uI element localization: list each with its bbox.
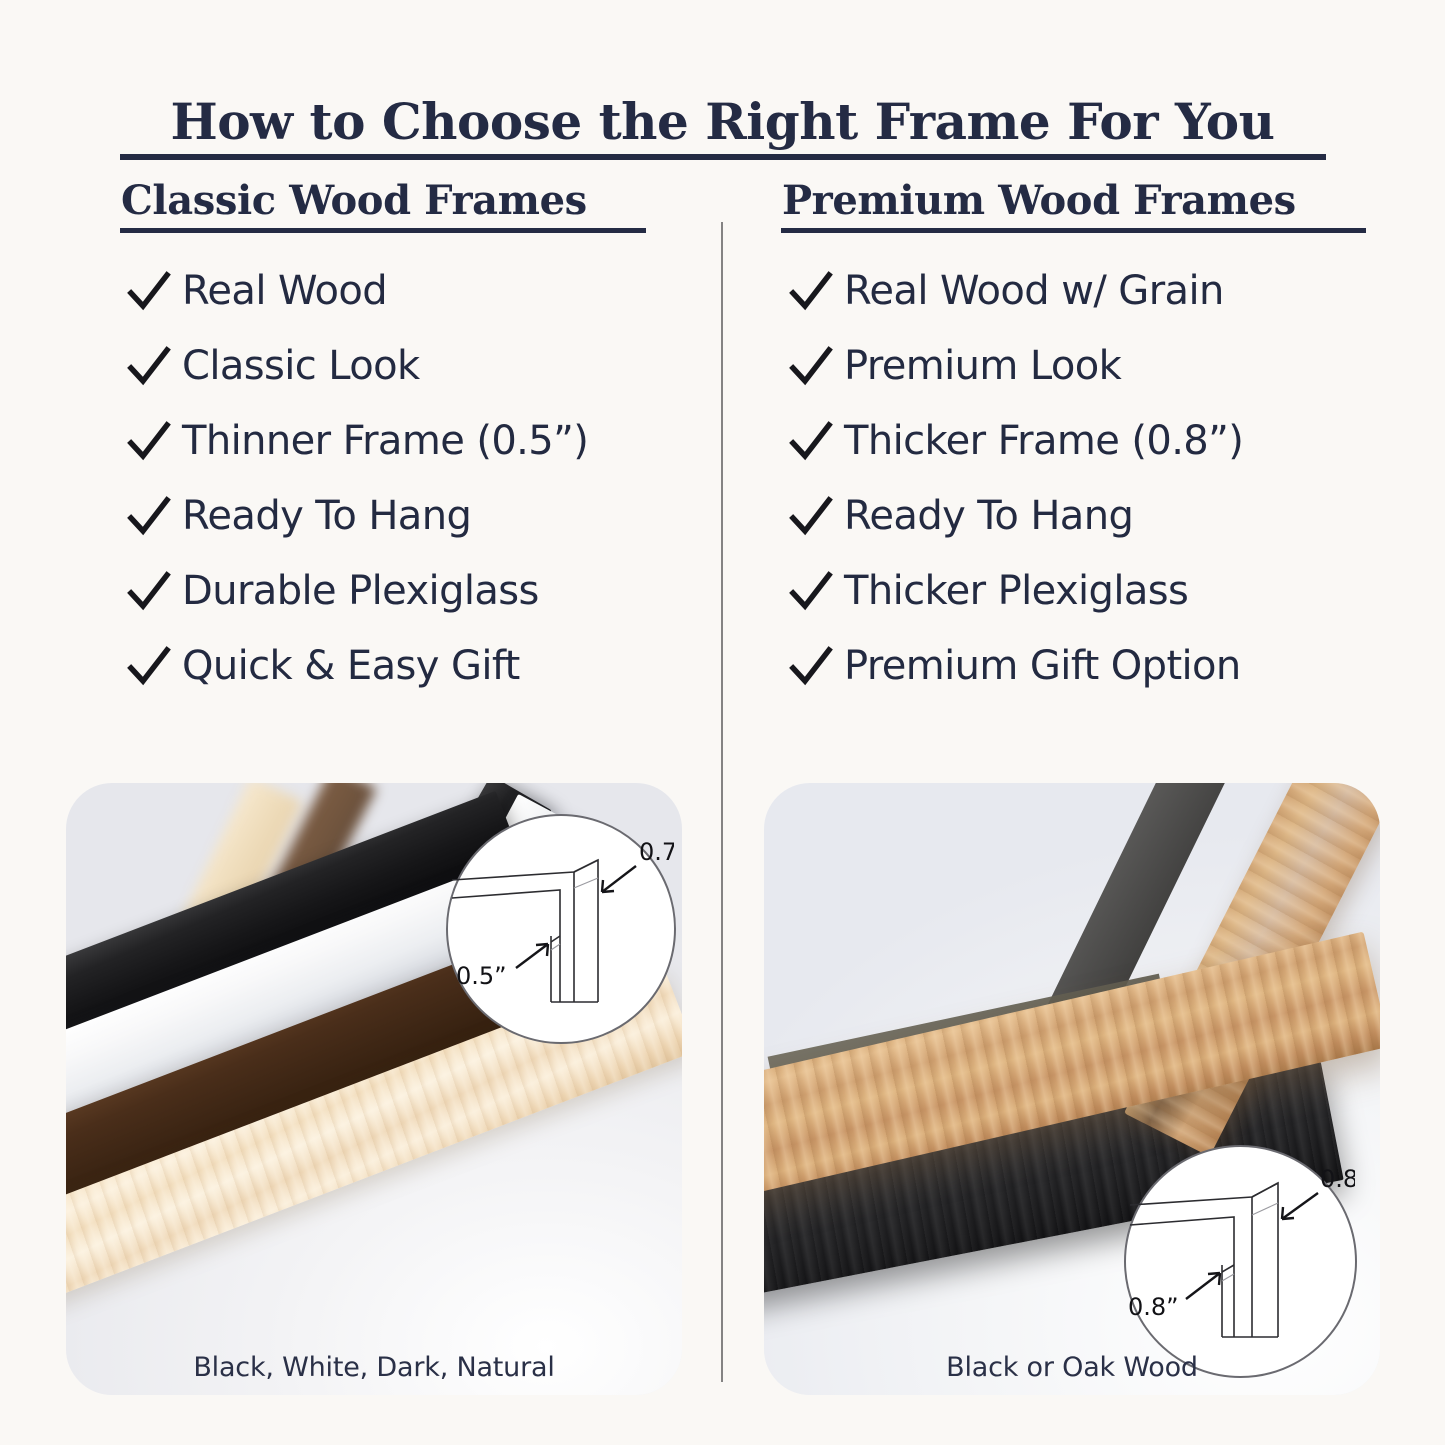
- diagram-width-label: 0.5”: [456, 962, 507, 990]
- column-heading-classic: Classic Wood Frames: [121, 177, 587, 224]
- list-item: Premium Look: [788, 328, 1243, 403]
- feature-label: Classic Look: [182, 346, 420, 386]
- check-icon: [788, 643, 834, 689]
- check-icon: [126, 568, 172, 614]
- list-item: Real Wood: [126, 253, 588, 328]
- list-item: Quick & Easy Gift: [126, 628, 588, 703]
- feature-list-classic: Real Wood Classic Look Thinner Frame (0.…: [126, 253, 588, 703]
- feature-label: Thicker Frame (0.8”): [844, 421, 1243, 461]
- diagram-depth-label: 0.75”: [639, 838, 674, 866]
- feature-label: Premium Look: [844, 346, 1121, 386]
- infographic-page: How to Choose the Right Frame For You Cl…: [0, 0, 1445, 1445]
- check-icon: [788, 268, 834, 314]
- title-underline-rule: [120, 154, 1326, 160]
- check-icon: [788, 568, 834, 614]
- check-icon: [788, 418, 834, 464]
- list-item: Classic Look: [126, 328, 588, 403]
- feature-label: Thinner Frame (0.5”): [182, 421, 588, 461]
- column-heading-underline-premium: [781, 228, 1366, 233]
- feature-label: Real Wood: [182, 271, 387, 311]
- list-item: Thinner Frame (0.5”): [126, 403, 588, 478]
- list-item: Durable Plexiglass: [126, 553, 588, 628]
- diagram-width-label: 0.8”: [1128, 1293, 1179, 1321]
- check-icon: [126, 343, 172, 389]
- check-icon: [126, 643, 172, 689]
- column-heading-underline-classic: [120, 228, 646, 233]
- feature-label: Real Wood w/ Grain: [844, 271, 1224, 311]
- list-item: Ready To Hang: [788, 478, 1243, 553]
- list-item: Thicker Plexiglass: [788, 553, 1243, 628]
- feature-label: Durable Plexiglass: [182, 571, 539, 611]
- check-icon: [126, 493, 172, 539]
- check-icon: [126, 418, 172, 464]
- list-item: Real Wood w/ Grain: [788, 253, 1243, 328]
- feature-list-premium: Real Wood w/ Grain Premium Look Thicker …: [788, 253, 1243, 703]
- check-icon: [788, 493, 834, 539]
- photo-caption-premium: Black or Oak Wood: [764, 1352, 1380, 1383]
- list-item: Thicker Frame (0.8”): [788, 403, 1243, 478]
- column-divider: [721, 222, 723, 1382]
- list-item: Ready To Hang: [126, 478, 588, 553]
- check-icon: [126, 268, 172, 314]
- feature-label: Quick & Easy Gift: [182, 646, 520, 686]
- photo-caption-classic: Black, White, Dark, Natural: [66, 1352, 682, 1383]
- feature-label: Thicker Plexiglass: [844, 571, 1188, 611]
- feature-label: Premium Gift Option: [844, 646, 1241, 686]
- page-title: How to Choose the Right Frame For You: [0, 92, 1445, 151]
- frame-dimension-diagram-premium: 0.8” 0.8”: [1124, 1145, 1357, 1378]
- frame-dimension-diagram-classic: 0.75” 0.5”: [446, 814, 676, 1044]
- check-icon: [788, 343, 834, 389]
- column-heading-premium: Premium Wood Frames: [782, 177, 1296, 224]
- feature-label: Ready To Hang: [844, 496, 1133, 536]
- feature-label: Ready To Hang: [182, 496, 471, 536]
- diagram-depth-label: 0.8”: [1320, 1165, 1355, 1193]
- list-item: Premium Gift Option: [788, 628, 1243, 703]
